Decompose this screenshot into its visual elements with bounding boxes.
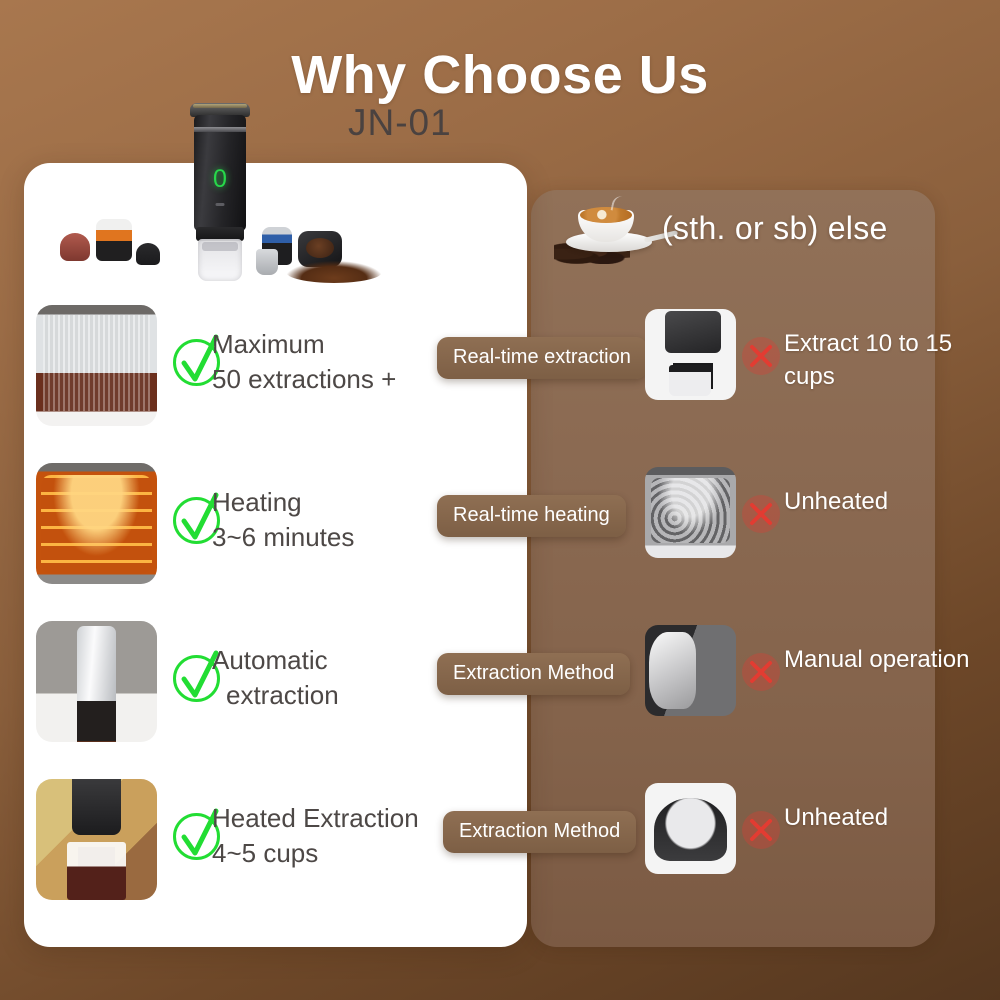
row-right-text: Extract 10 to 15 cups — [784, 327, 999, 393]
row-badge: Extraction Method — [437, 653, 630, 695]
row-left-line1: Heated Extraction — [212, 803, 419, 833]
row-badge: Real-time extraction — [437, 337, 647, 379]
row-right-text: Manual operation — [784, 643, 999, 676]
row-right-line1: Extract — [784, 330, 859, 357]
row-right-thumbnail — [645, 467, 736, 558]
row-right-line1: Manual operation — [784, 646, 969, 673]
row-badge: Extraction Method — [443, 811, 636, 853]
row-right-thumbnail — [645, 625, 736, 716]
row-left-thumbnail — [36, 305, 157, 426]
row-right-text: Unheated — [784, 801, 999, 834]
row-left-line1: Automatic — [212, 645, 328, 675]
row-badge: Real-time heating — [437, 495, 626, 537]
row-left-thumbnail — [36, 621, 157, 742]
red-cross-circle-icon — [742, 337, 780, 375]
row-right-text: Unheated — [784, 485, 999, 518]
red-cross-circle-icon — [742, 653, 780, 691]
row-right-thumbnail — [645, 783, 736, 874]
row-left-thumbnail — [36, 779, 157, 900]
row-right-thumbnail — [645, 309, 736, 400]
red-cross-circle-icon — [742, 495, 780, 533]
row-left-line1: Heating — [212, 487, 302, 517]
row-left-thumbnail — [36, 463, 157, 584]
comparison-rows: Maximum 50 extractions + Real-time extra… — [0, 0, 1000, 1000]
row-right-line1: Unheated — [784, 488, 888, 515]
row-right-line1: Unheated — [784, 804, 888, 831]
row-left-line1: Maximum — [212, 329, 325, 359]
red-cross-circle-icon — [742, 811, 780, 849]
